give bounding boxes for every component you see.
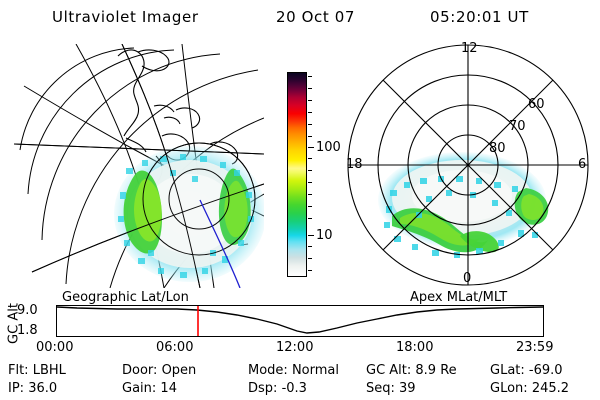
status-flt-label: Flt: (8, 363, 29, 378)
status-ip: IP: 36.0 (8, 381, 57, 396)
mlat-label-70: 70 (509, 120, 526, 133)
colorbar-minor-tick (308, 194, 312, 195)
status-glon-label: GLon: (490, 381, 528, 396)
status-gain-value: 14 (160, 381, 177, 396)
mlat-label-60: 60 (528, 98, 545, 111)
mlt-label-12: 12 (461, 42, 478, 55)
time-label-1800: 18:00 (396, 340, 433, 355)
status-mode-label: Mode: (248, 363, 288, 378)
geographic-map-panel[interactable] (14, 44, 264, 288)
status-dsp-value: -0.3 (282, 381, 307, 396)
time-label-1200: 12:00 (276, 340, 313, 355)
colorbar-minor-tick (308, 112, 312, 113)
aurora-emission-right (378, 152, 548, 258)
status-glat: GLat: -69.0 (490, 363, 563, 378)
status-dsp-label: Dsp: (248, 381, 277, 396)
apex-dial-panel[interactable]: 12 6 0 18 60 70 80 (330, 40, 600, 290)
mlat-label-80: 80 (489, 142, 506, 155)
colorbar-minor-tick (308, 136, 312, 137)
colorbar-minor-tick (308, 246, 312, 247)
status-door: Door: Open (122, 363, 196, 378)
colorbar-minor-tick (308, 170, 312, 171)
status-seq-value: 39 (399, 381, 416, 396)
colorbar-minor-tick (308, 158, 312, 159)
status-gain-label: Gain: (122, 381, 156, 396)
status-door-value: Open (162, 363, 197, 378)
status-ip-label: IP: (8, 381, 24, 396)
status-gain: Gain: 14 (122, 381, 177, 396)
time-label-0600: 06:00 (156, 340, 193, 355)
colorbar-minor-tick (308, 270, 312, 271)
altitude-tick-low: 1.8 (17, 324, 38, 337)
status-seq: Seq: 39 (366, 381, 416, 396)
status-ip-value: 36.0 (28, 381, 57, 396)
header-bar: Ultraviolet Imager 20 Oct 07 05:20:01 UT (0, 6, 600, 30)
mlt-label-6: 6 (578, 158, 586, 171)
colorbar-minor-tick (308, 124, 312, 125)
colorbar-gradient (287, 72, 307, 277)
time-label-0000: 00:00 (36, 340, 73, 355)
status-glat-value: -69.0 (529, 363, 563, 378)
colorbar-major-tick-10 (308, 235, 314, 236)
altitude-curve (57, 307, 543, 333)
aurora-emission-left (114, 146, 264, 282)
status-gcalt-label: GC Alt: (366, 363, 411, 378)
colorbar-minor-tick (308, 182, 312, 183)
altitude-plot-area[interactable] (56, 305, 544, 337)
colorbar-minor-tick (308, 258, 312, 259)
observation-time: 05:20:01 UT (430, 8, 529, 26)
altitude-timeline-panel[interactable]: GC Alt 9.0 1.8 00:00 06:00 12:00 18:00 2… (0, 300, 600, 358)
dial-spokes (348, 45, 588, 285)
altitude-curve-svg (57, 306, 543, 336)
status-glat-label: GLat: (490, 363, 525, 378)
page-title: Ultraviolet Imager (52, 8, 199, 26)
status-door-label: Door: (122, 363, 157, 378)
status-glon-value: 245.2 (532, 381, 569, 396)
status-glon: GLon: 245.2 (490, 381, 569, 396)
apex-dial-svg (330, 40, 600, 290)
status-seq-label: Seq: (366, 381, 395, 396)
colorbar-minor-tick (308, 76, 312, 77)
altitude-tick-high: 9.0 (17, 304, 38, 317)
status-flt-value: LBHL (33, 363, 66, 378)
status-dsp: Dsp: -0.3 (248, 381, 307, 396)
colorbar-minor-tick (308, 100, 312, 101)
status-gcalt-value: 8.9 Re (415, 363, 456, 378)
status-mode-value: Normal (292, 363, 339, 378)
colorbar-major-tick-100 (308, 147, 314, 148)
observation-date: 20 Oct 07 (276, 8, 355, 26)
geographic-map-svg (14, 44, 264, 288)
colorbar-minor-tick (308, 206, 312, 207)
colorbar-panel: photon cm-2s-1 100 10 (268, 60, 330, 290)
mlt-label-18: 18 (346, 158, 363, 171)
geographic-graticule (14, 44, 264, 288)
status-flt: Flt: LBHL (8, 363, 66, 378)
status-mode: Mode: Normal (248, 363, 339, 378)
status-block: Flt: LBHL Door: Open Mode: Normal GC Alt… (0, 363, 600, 399)
colorbar-minor-tick (308, 88, 312, 89)
mlt-label-0: 0 (463, 272, 471, 285)
time-label-2359: 23:59 (516, 340, 553, 355)
status-gcalt: GC Alt: 8.9 Re (366, 363, 457, 378)
colorbar-minor-tick (308, 218, 312, 219)
